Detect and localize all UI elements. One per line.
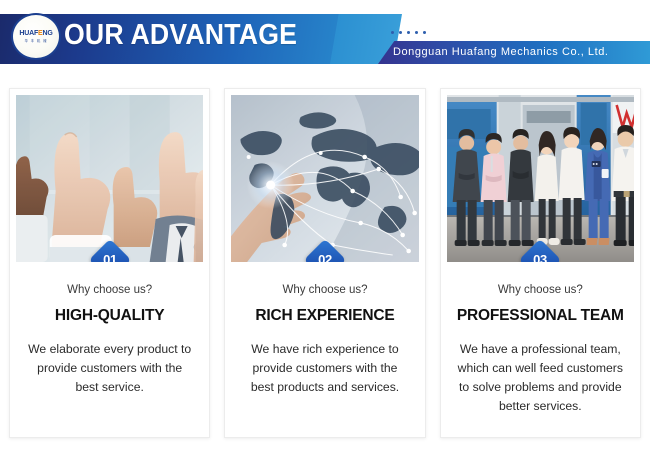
world-map-network-photo <box>231 95 418 262</box>
dot-icon <box>423 31 426 34</box>
card-body: Why choose us? RICH EXPERIENCE We have r… <box>231 262 418 397</box>
advantage-card[interactable]: 01 Why choose us? HIGH-QUALITY We elabor… <box>9 88 210 438</box>
card-headline: HIGH-QUALITY <box>26 307 193 325</box>
dot-icon <box>391 31 394 34</box>
dot-icon <box>407 31 410 34</box>
page-title: OUR ADVANTAGE <box>64 19 297 52</box>
company-name: Dongguan Huafang Mechanics Co., Ltd. <box>393 41 645 64</box>
card-image-thumb: 02 <box>231 95 418 262</box>
card-number: 02 <box>310 245 340 262</box>
card-headline: RICH EXPERIENCE <box>241 307 408 325</box>
dot-icon <box>399 31 402 34</box>
card-number: 01 <box>95 245 125 262</box>
advantage-card-list: 01 Why choose us? HIGH-QUALITY We elabor… <box>0 88 650 448</box>
logo-wordmark: HUAFENG <box>19 30 52 38</box>
card-image-thumb: 03 <box>447 95 634 262</box>
card-body: Why choose us? HIGH-QUALITY We elaborate… <box>16 262 203 397</box>
advantage-card[interactable]: 03 Why choose us? PROFESSIONAL TEAM We h… <box>440 88 641 438</box>
card-headline: PROFESSIONAL TEAM <box>457 307 624 325</box>
card-description: We have rich experience to provide custo… <box>241 340 408 397</box>
card-description: We have a professional team, which can w… <box>457 340 624 416</box>
decorative-dots <box>391 31 426 34</box>
dot-icon <box>415 31 418 34</box>
logo-subtext: 华 丰 机 械 <box>25 38 48 44</box>
thumbs-up-hands-photo <box>16 95 203 262</box>
card-eyebrow: Why choose us? <box>241 284 408 296</box>
card-description: We elaborate every product to provide cu… <box>26 340 193 397</box>
card-number: 03 <box>525 245 555 262</box>
advantage-card[interactable]: 02 Why choose us? RICH EXPERIENCE We hav… <box>224 88 425 438</box>
company-logo: HUAFENG 华 丰 机 械 <box>11 13 61 60</box>
card-eyebrow: Why choose us? <box>457 284 624 296</box>
card-body: Why choose us? PROFESSIONAL TEAM We have… <box>447 262 634 416</box>
card-image-thumb: 01 <box>16 95 203 262</box>
company-team-factory-photo <box>447 95 634 262</box>
logo-wordmark-suffix: NG <box>43 30 53 37</box>
card-eyebrow: Why choose us? <box>26 284 193 296</box>
logo-wordmark-prefix: HUAF <box>19 30 38 37</box>
page-header: Dongguan Huafang Mechanics Co., Ltd. OUR… <box>0 0 650 80</box>
